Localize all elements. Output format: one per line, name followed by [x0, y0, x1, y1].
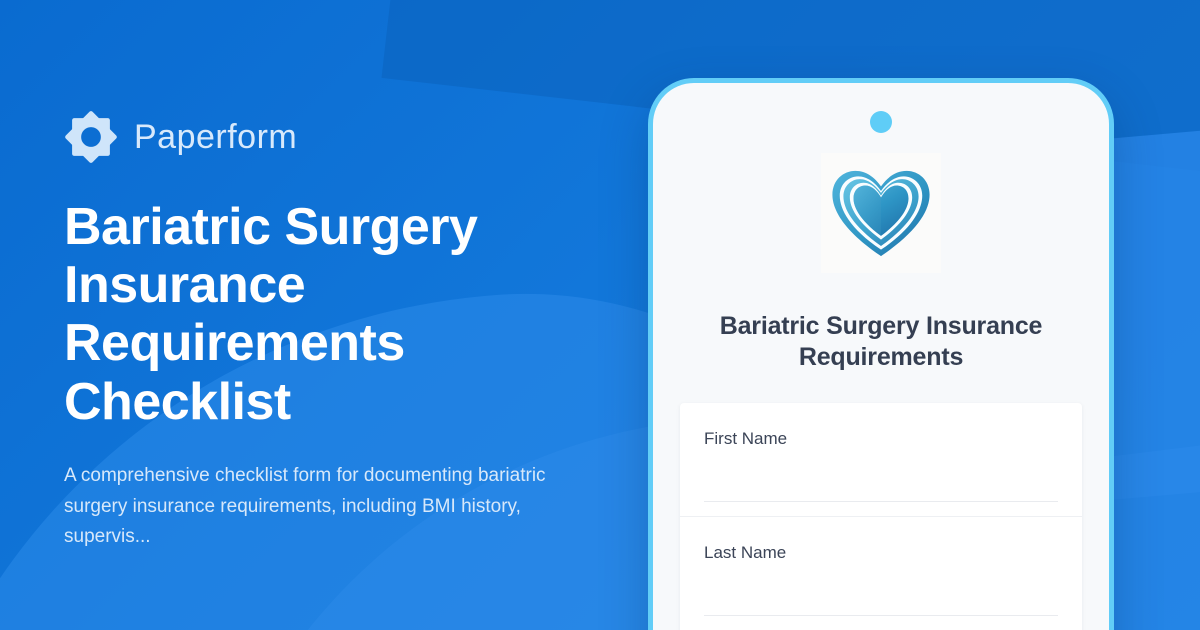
layered-heart-logo-icon	[821, 153, 941, 273]
field-underline	[704, 501, 1058, 502]
phone-mockup: Bariatric Surgery Insurance Requirements…	[648, 78, 1114, 630]
paperform-star-logo-icon	[64, 110, 118, 164]
form-title: Bariatric Surgery Insurance Requirements	[679, 311, 1083, 372]
brand-lockup: Paperform	[64, 110, 604, 164]
brand-wordmark: Paperform	[134, 120, 297, 154]
hero-panel: Paperform Bariatric Surgery Insurance Re…	[64, 110, 604, 553]
form-field-first-name[interactable]: First Name	[680, 403, 1082, 517]
page-title: Bariatric Surgery Insurance Requirements…	[64, 198, 494, 431]
share-card-canvas: Paperform Bariatric Surgery Insurance Re…	[0, 0, 1200, 630]
form-card: First Name Last Name	[680, 403, 1082, 630]
field-label-last-name: Last Name	[704, 543, 1058, 563]
field-underline	[704, 615, 1058, 616]
field-label-first-name: First Name	[704, 429, 1058, 449]
page-description: A comprehensive checklist form for docum…	[64, 461, 576, 553]
camera-dot-icon	[870, 111, 892, 133]
form-field-last-name[interactable]: Last Name	[680, 517, 1082, 630]
